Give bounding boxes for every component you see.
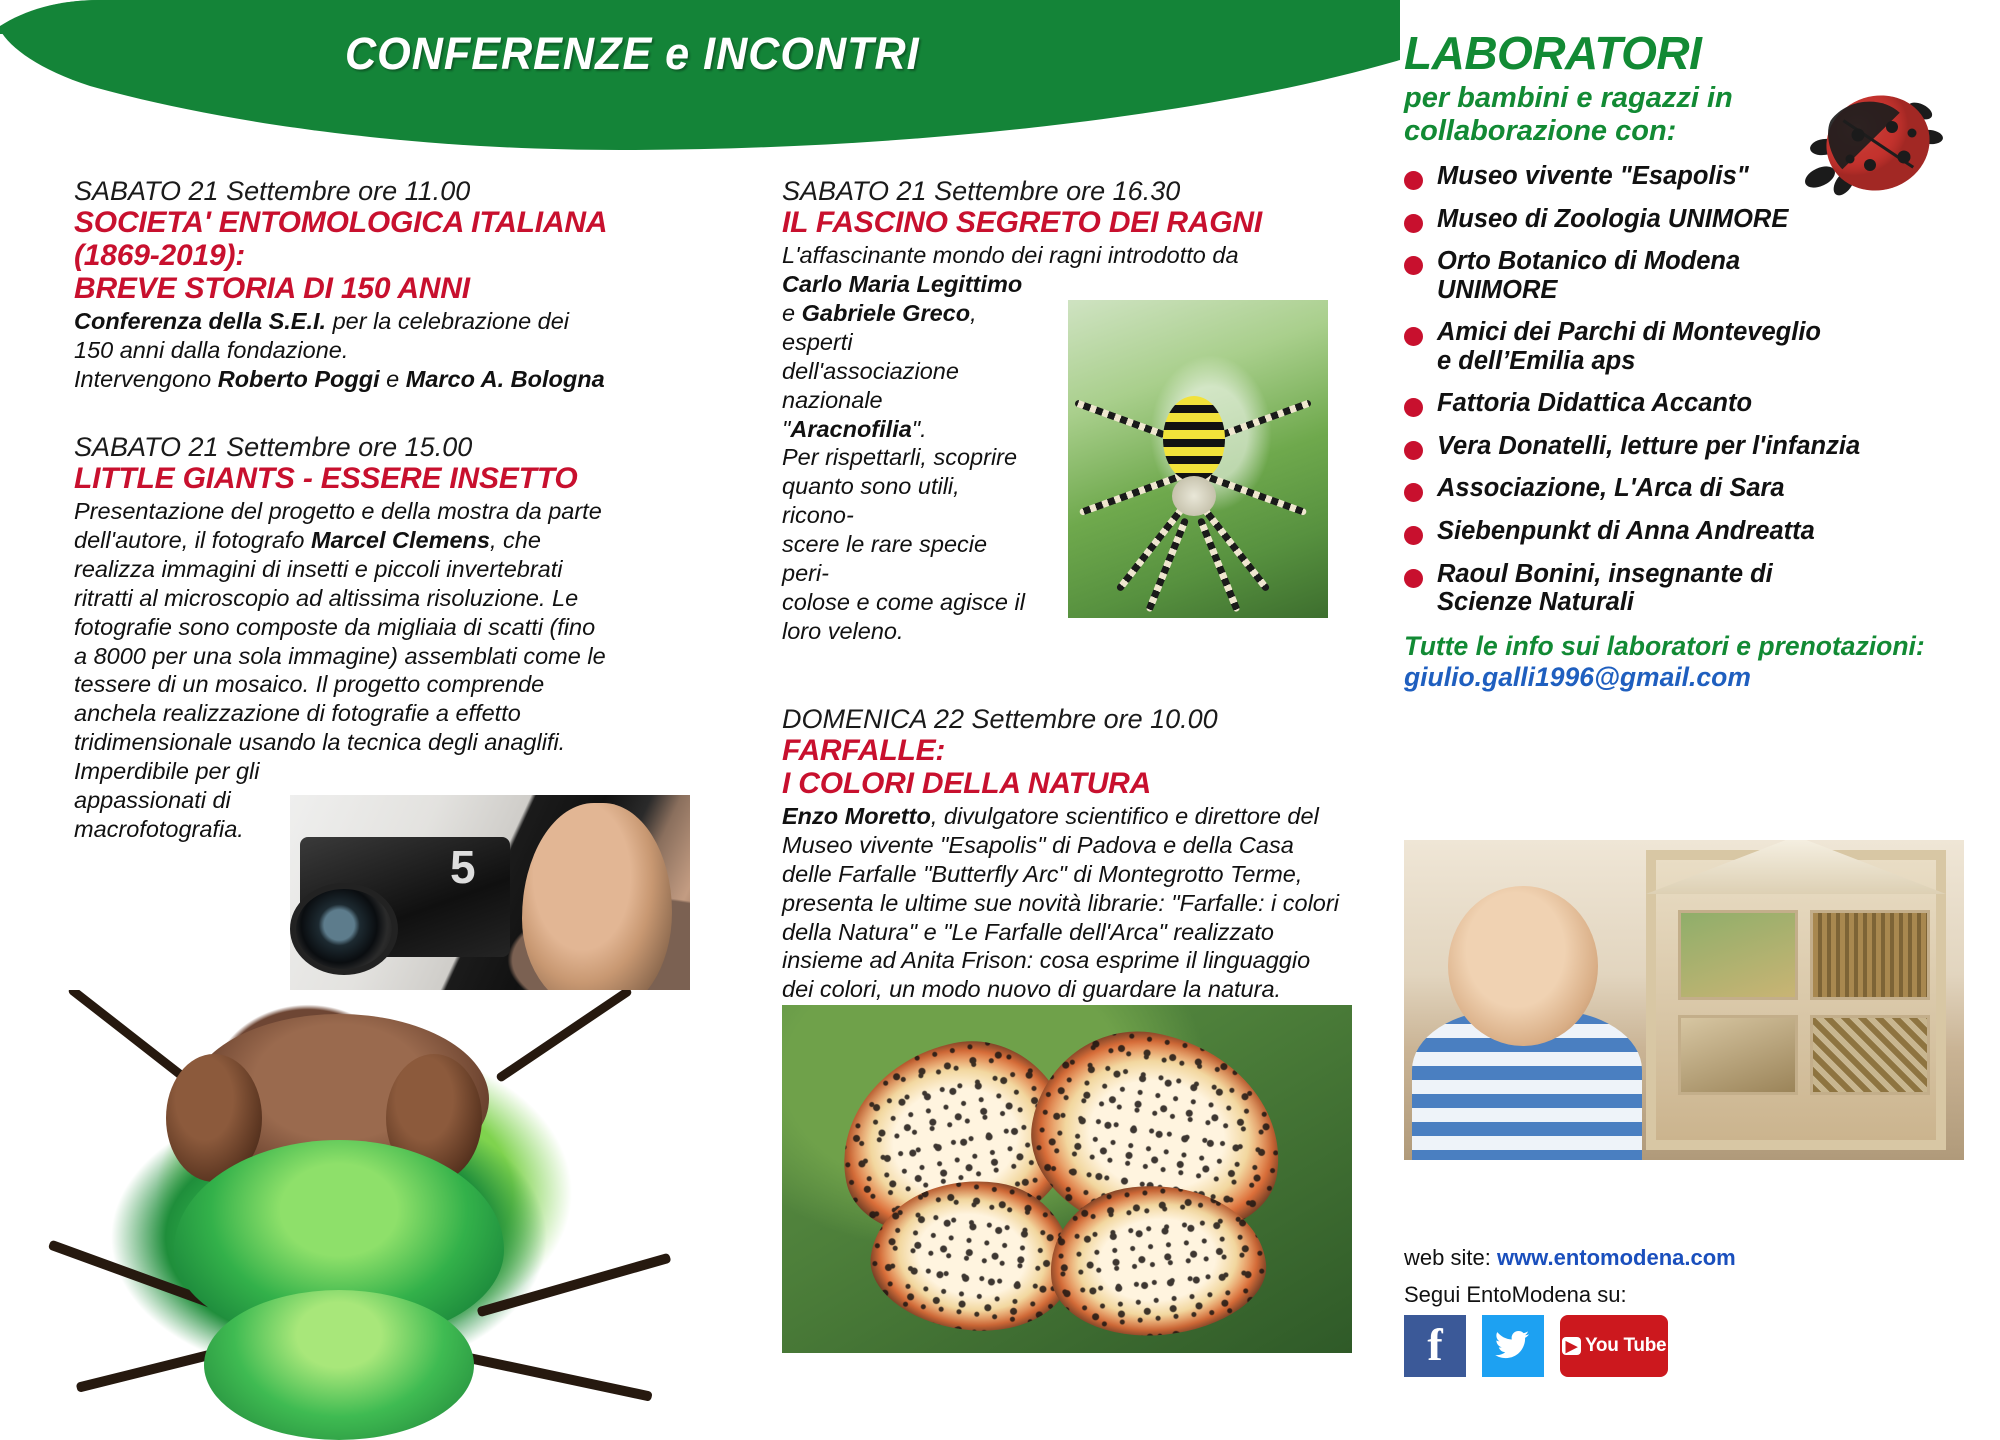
website-line: web site: www.entomodena.com xyxy=(1404,1245,1736,1271)
event-title-line: FARFALLE: xyxy=(782,734,1352,767)
event-datetime: SABATO 21 Settembre ore 16.30 xyxy=(782,176,1352,206)
camera-lens xyxy=(290,883,398,975)
fly-leg xyxy=(67,990,191,1084)
event-datetime: DOMENICA 22 Settembre ore 10.00 xyxy=(782,704,1352,734)
spiders-text-line: quanto sono utili, ricono- xyxy=(782,472,1032,530)
list-item: Associazione, L'Arca di Sara xyxy=(1404,474,1964,503)
insect-hotel-cell xyxy=(1810,1015,1930,1095)
left-column: SABATO 21 Settembre ore 11.00 SOCIETA' E… xyxy=(74,176,654,848)
event-datetime: SABATO 21 Settembre ore 15.00 xyxy=(74,432,654,462)
event-title: FARFALLE: I COLORI DELLA NATURA xyxy=(782,734,1352,800)
conference-lead-rest: per la celebrazione dei xyxy=(326,308,569,334)
laboratories-title: LABORATORI xyxy=(1404,30,1964,76)
youtube-label: You Tube xyxy=(1585,1335,1666,1357)
bullet-icon xyxy=(1404,327,1423,346)
website-label: web site: xyxy=(1404,1245,1491,1270)
wasp-spider-photo xyxy=(1068,300,1328,618)
speaker-1: Roberto Poggi xyxy=(218,366,380,392)
partners-list: Museo vivente "Esapolis" Museo di Zoolog… xyxy=(1404,162,1964,617)
ladybug-illustration xyxy=(1800,85,1950,203)
expert-2-comma: , xyxy=(970,300,977,326)
page-title: CONFERENZE e INCONTRI xyxy=(345,28,920,80)
description-post: , che realizza immagini di insetti e pic… xyxy=(74,527,606,755)
spiders-text-line: loro veleno. xyxy=(782,617,1032,646)
partner-name: Fattoria Didattica Accanto xyxy=(1437,389,1752,418)
bullet-icon xyxy=(1404,569,1423,588)
event-title-line: BREVE STORIA DI 150 ANNI xyxy=(74,272,654,305)
list-item: Raoul Bonini, insegnante di Scienze Natu… xyxy=(1404,560,1964,617)
partner-name: Museo di Zoologia UNIMORE xyxy=(1437,205,1788,234)
bullet-icon xyxy=(1404,526,1423,545)
event-description: Presentazione del progetto e della mostr… xyxy=(74,497,614,757)
speakers-conjunction: e xyxy=(380,366,406,392)
spiders-text-line: Per rispettarli, scoprire xyxy=(782,443,1032,472)
spiders-text-line: scere le rare specie peri- xyxy=(782,530,1032,588)
bullet-icon xyxy=(1404,441,1423,460)
partner-name: Siebenpunkt di Anna Andreatta xyxy=(1437,517,1815,546)
child-insect-hotel-photo xyxy=(1404,840,1964,1160)
camera-number: 5 xyxy=(450,840,476,894)
bullet-icon xyxy=(1404,398,1423,417)
event-title: LITTLE GIANTS - ESSERE INSETTO xyxy=(74,462,654,495)
spiders-text-line: esperti dell'associazione xyxy=(782,328,1032,386)
poster-page: CONFERENZE e INCONTRI SABATO 21 Settembr… xyxy=(0,0,2000,1440)
speaker-name: Enzo Moretto xyxy=(782,803,931,829)
event-sei: SABATO 21 Settembre ore 11.00 SOCIETA' E… xyxy=(74,176,654,394)
spiders-text-line: colose e come agisce il xyxy=(782,588,1032,617)
event-little-giants: SABATO 21 Settembre ore 15.00 LITTLE GIA… xyxy=(74,432,654,844)
insect-hotel-cell xyxy=(1810,910,1930,1000)
event-butterflies: DOMENICA 22 Settembre ore 10.00 FARFALLE… xyxy=(782,704,1352,1004)
youtube-play-glyph: ▶ xyxy=(1562,1337,1581,1355)
bullet-icon xyxy=(1404,256,1423,275)
youtube-icon[interactable]: ▶You Tube xyxy=(1560,1315,1668,1377)
event-intro: L'affascinante mondo dei ragni introdott… xyxy=(782,241,1352,270)
facebook-glyph: f xyxy=(1427,1322,1442,1368)
follow-label: Segui EntoModena su: xyxy=(1404,1282,1627,1308)
list-item: Amici dei Parchi di Monteveglio e dell’E… xyxy=(1404,318,1964,375)
fly-abdomen xyxy=(204,1290,474,1440)
partner-name: Orto Botanico di Modena UNIMORE xyxy=(1437,247,1740,304)
expert-2-prefix: e xyxy=(782,300,802,326)
spiders-wrapped-text: esperti dell'associazione nazionale "Ara… xyxy=(782,328,1032,646)
event-description: Conferenza della S.E.I. per la celebrazi… xyxy=(74,307,654,394)
list-item: Museo di Zoologia UNIMORE xyxy=(1404,205,1964,234)
bullet-icon xyxy=(1404,214,1423,233)
expert-1: Carlo Maria Legittimo xyxy=(782,270,1352,299)
event-title-line: (1869-2019): xyxy=(74,239,654,272)
spider-abdomen xyxy=(1163,396,1225,482)
expert-2-name: Gabriele Greco xyxy=(802,300,971,326)
mating-butterflies-photo xyxy=(782,1005,1352,1353)
speaker-2: Marco A. Bologna xyxy=(406,366,605,392)
event-title: IL FASCINO SEGRETO DEI RAGNI xyxy=(782,206,1352,239)
photographer-face xyxy=(522,803,672,1013)
photographer-name: Marcel Clemens xyxy=(311,527,490,553)
event-title: SOCIETA' ENTOMOLOGICA ITALIANA (1869-201… xyxy=(74,206,654,305)
booking-info-title: Tutte le info sui laboratori e prenotazi… xyxy=(1404,631,1964,662)
fly-leg xyxy=(445,1348,652,1401)
bullet-icon xyxy=(1404,171,1423,190)
booking-email[interactable]: giulio.galli1996@gmail.com xyxy=(1404,662,1964,693)
event-description: Enzo Moretto, divulgatore scientifico e … xyxy=(782,802,1347,1004)
twitter-icon[interactable] xyxy=(1482,1315,1544,1377)
conference-line2: 150 anni dalla fondazione. xyxy=(74,336,654,365)
green-fly-macro-photo xyxy=(14,990,714,1440)
description-rest: , divulgatore scientifico e direttore de… xyxy=(782,803,1339,1002)
list-item: Vera Donatelli, letture per l'infanzia xyxy=(1404,432,1964,461)
insect-hotel-cell xyxy=(1678,910,1798,1000)
expert-1-name: Carlo Maria Legittimo xyxy=(782,271,1022,297)
partner-name: Associazione, L'Arca di Sara xyxy=(1437,474,1785,503)
partner-name: Museo vivente "Esapolis" xyxy=(1437,162,1749,191)
social-links: f ▶You Tube xyxy=(1404,1315,1668,1377)
conference-label: Conferenza della S.E.I. xyxy=(74,308,326,334)
website-url[interactable]: www.entomodena.com xyxy=(1497,1245,1736,1270)
spiders-text-line: nazionale "Aracnofilia". xyxy=(782,386,1032,444)
photographer-with-camera-photo: 5 xyxy=(290,795,690,1015)
child-head xyxy=(1448,886,1598,1046)
insect-hotel xyxy=(1646,850,1946,1150)
fly-leg xyxy=(476,1253,671,1318)
speakers-prefix: Intervengono xyxy=(74,366,218,392)
list-item: Fattoria Didattica Accanto xyxy=(1404,389,1964,418)
event-title-line: SOCIETA' ENTOMOLOGICA ITALIANA xyxy=(74,206,654,239)
insect-hotel-cell xyxy=(1678,1015,1798,1095)
bullet-icon xyxy=(1404,483,1423,502)
list-item: Siebenpunkt di Anna Andreatta xyxy=(1404,517,1964,546)
facebook-icon[interactable]: f xyxy=(1404,1315,1466,1377)
event-datetime: SABATO 21 Settembre ore 11.00 xyxy=(74,176,654,206)
event-title-line: I COLORI DELLA NATURA xyxy=(782,767,1352,800)
partner-name: Vera Donatelli, letture per l'infanzia xyxy=(1437,432,1860,461)
association-name: Aracnofilia xyxy=(790,416,911,442)
list-item: Orto Botanico di Modena UNIMORE xyxy=(1404,247,1964,304)
partner-name: Raoul Bonini, insegnante di Scienze Natu… xyxy=(1437,560,1773,617)
spider-cephalothorax xyxy=(1172,476,1216,516)
partner-name: Amici dei Parchi di Monteveglio e dell’E… xyxy=(1437,318,1821,375)
fly-leg xyxy=(495,990,633,1083)
